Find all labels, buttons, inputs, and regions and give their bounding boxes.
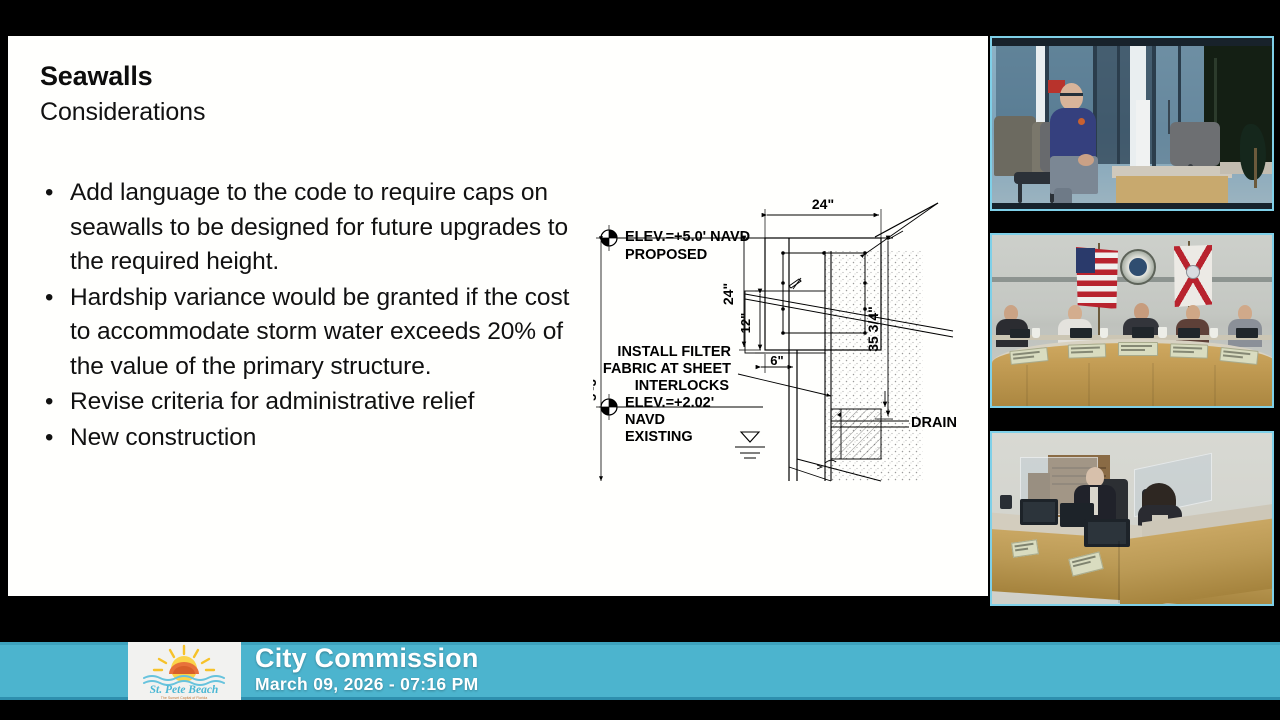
meeting-datetime: March 09, 2026 - 07:16 PM: [255, 673, 955, 695]
list-item: • Hardship variance would be granted if …: [32, 281, 577, 385]
label-elev-proposed-line2: PROPOSED: [625, 247, 707, 263]
slide-bullet-list: • Add language to the code to require ca…: [32, 176, 577, 456]
dim-sheet-depth: 35 3/4": [865, 306, 881, 352]
label-filter-line3: INTERLOCKS: [635, 378, 730, 394]
camera-lobby-speaker[interactable]: [990, 36, 1274, 211]
dim-inner-height: 12": [738, 313, 753, 334]
st-pete-beach-logo: St. Pete Beach The Sunset Capital of Flo…: [128, 642, 241, 700]
banner-text-group: City Commission March 09, 2026 - 07:16 P…: [255, 644, 955, 695]
slide-subtitle: Considerations: [40, 98, 205, 127]
broadcast-banner: St. Pete Beach The Sunset Capital of Flo…: [0, 642, 1280, 700]
camera-commission-dais[interactable]: [990, 233, 1274, 408]
meeting-title: City Commission: [255, 644, 955, 673]
seawall-cap-section-diagram: 24": [593, 191, 978, 491]
bullet-text: New construction: [70, 421, 577, 456]
bullet-text: Hardship variance would be granted if th…: [70, 281, 577, 385]
list-item: • Revise criteria for administrative rel…: [32, 385, 577, 420]
slide-title: Seawalls: [40, 61, 152, 92]
list-item: • New construction: [32, 421, 577, 456]
presentation-slide: Seawalls Considerations • Add language t…: [8, 36, 988, 596]
label-elev-proposed-line1: ELEV.=+5.0' NAVD: [625, 229, 750, 245]
label-filter-line2: FABRIC AT SHEET: [603, 361, 731, 377]
logo-primary-text: St. Pete Beach: [150, 684, 219, 696]
stream-viewport: Seawalls Considerations • Add language t…: [0, 0, 1280, 720]
dim-top-width: 24": [812, 196, 834, 212]
logo-tagline: The Sunset Capital of Florida: [161, 696, 208, 700]
label-filter-line1: INSTALL FILTER: [617, 344, 731, 360]
bullet-marker-icon: •: [32, 176, 70, 211]
bullet-marker-icon: •: [32, 421, 70, 456]
dim-offset: 6": [770, 353, 783, 368]
camera-staff-desk[interactable]: [990, 431, 1274, 606]
bullet-text: Revise criteria for administrative relie…: [70, 385, 577, 420]
label-elev-existing-line3: EXISTING: [625, 429, 693, 445]
bullet-marker-icon: •: [32, 385, 70, 420]
label-drain: DRAIN: [911, 415, 957, 431]
label-elev-existing-line2: NAVD: [625, 412, 665, 428]
label-elev-existing-line1: ELEV.=+2.02': [625, 395, 714, 411]
bullet-text: Add language to the code to require caps…: [70, 176, 577, 280]
bullet-marker-icon: •: [32, 281, 70, 316]
dim-wall-height: 5'-3": [593, 373, 599, 401]
dim-cap-height: 24": [720, 283, 736, 305]
list-item: • Add language to the code to require ca…: [32, 176, 577, 280]
